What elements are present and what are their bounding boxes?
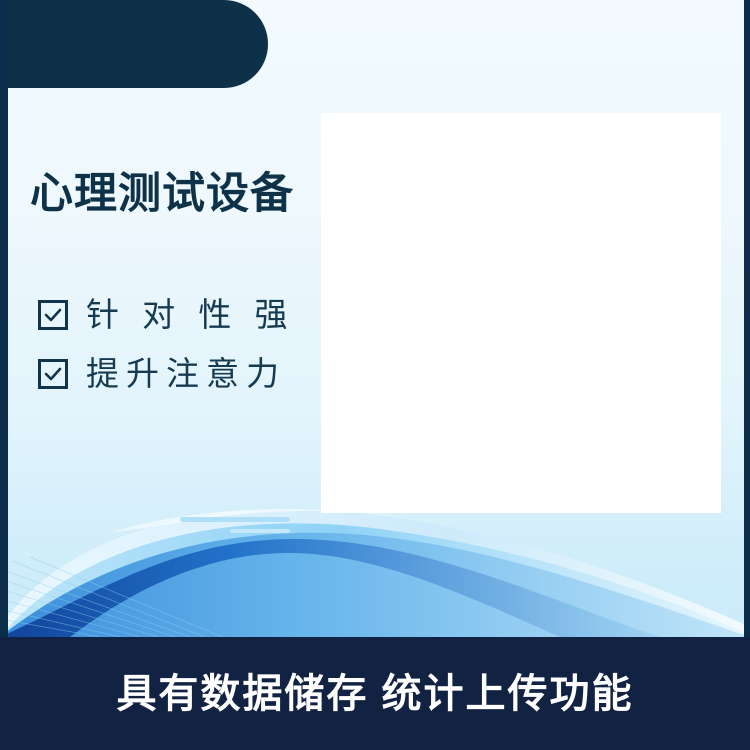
list-item: 提升注意力 xyxy=(38,357,295,390)
top-navy-bar xyxy=(0,0,268,88)
checkbox-checked-icon xyxy=(38,300,68,330)
feature-label: 提升注意力 xyxy=(86,357,286,390)
page-title: 心理测试设备 xyxy=(30,172,294,217)
product-image-panel: 88888 叶克斯选择器 xyxy=(321,113,721,513)
bottom-banner: 具有数据储存 统计上传功能 xyxy=(0,637,750,750)
feature-list: 针 对 性 强 提升注意力 xyxy=(38,298,295,416)
feature-label: 针 对 性 强 xyxy=(86,298,295,331)
promo-poster: 心理测试设备 针 对 性 强 提升注意力 xyxy=(0,0,750,750)
list-item: 针 对 性 强 xyxy=(38,298,295,331)
checkbox-checked-icon xyxy=(38,359,68,389)
banner-text: 具有数据储存 统计上传功能 xyxy=(116,674,633,714)
